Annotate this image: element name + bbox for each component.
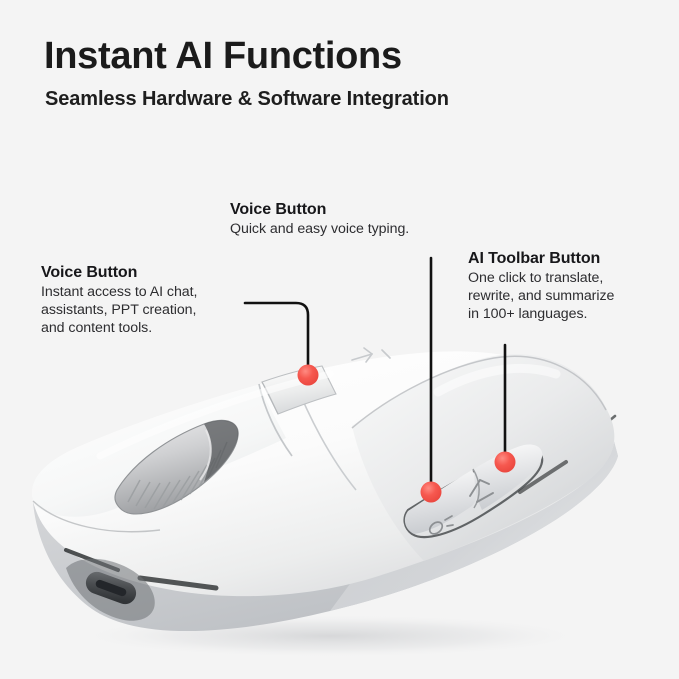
product-illustration bbox=[0, 330, 679, 660]
callout-ai-toolbar-button: AI Toolbar Button One click to translate… bbox=[468, 250, 668, 324]
callout-voice-button-mid: Voice Button Quick and easy voice typing… bbox=[230, 201, 470, 239]
callout-title: Voice Button bbox=[41, 264, 271, 282]
callout-body-line: One click to translate, bbox=[468, 270, 668, 288]
callout-body: Instant access to AI chat, assistants, P… bbox=[41, 284, 271, 338]
callout-body-line: Instant access to AI chat, bbox=[41, 284, 271, 302]
page-root: Instant AI Functions Seamless Hardware &… bbox=[0, 0, 679, 679]
callout-voice-button-left: Voice Button Instant access to AI chat, … bbox=[41, 264, 271, 338]
page-subtitle: Seamless Hardware & Software Integration bbox=[45, 88, 449, 111]
page-title: Instant AI Functions bbox=[44, 36, 402, 78]
callout-body: Quick and easy voice typing. bbox=[230, 221, 470, 239]
callout-body-line: in 100+ languages. bbox=[468, 306, 668, 324]
callout-body-line: and content tools. bbox=[41, 320, 271, 338]
callout-body-line: rewrite, and summarize bbox=[468, 288, 668, 306]
callout-body-line: Quick and easy voice typing. bbox=[230, 221, 470, 239]
callout-title: AI Toolbar Button bbox=[468, 250, 668, 268]
callout-title: Voice Button bbox=[230, 201, 470, 219]
callout-body-line: assistants, PPT creation, bbox=[41, 302, 271, 320]
callout-body: One click to translate, rewrite, and sum… bbox=[468, 270, 668, 324]
